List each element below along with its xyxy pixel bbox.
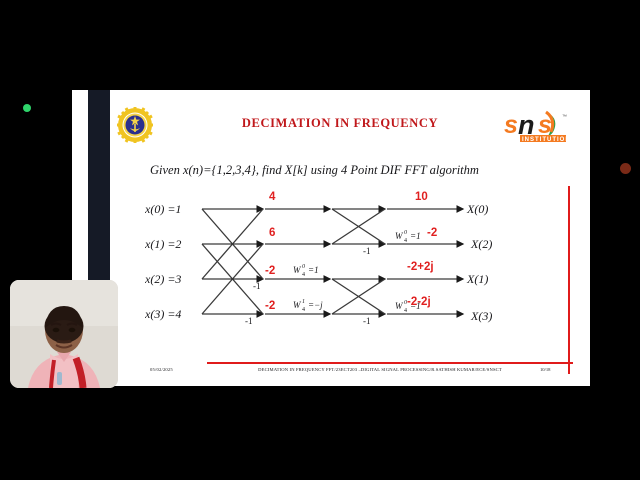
svg-text:W: W: [395, 301, 404, 311]
footer-page-number: 10/18: [540, 367, 550, 372]
svg-text:W: W: [293, 265, 302, 275]
output-label-0: X(0): [466, 202, 488, 216]
output-value-2: -2+2j: [407, 261, 434, 273]
svg-text:W: W: [293, 300, 302, 310]
stage1-value-3: -2: [265, 300, 275, 312]
svg-text:1: 1: [302, 299, 305, 305]
slide-vertical-accent-rule: [568, 186, 570, 374]
svg-text:=−j: =−j: [308, 300, 323, 310]
minus-one-label: -1: [253, 281, 261, 291]
svg-text:INSTITUTIONS: INSTITUTIONS: [522, 137, 574, 143]
fft-butterfly-diagram: x(0) =1 x(1) =2 x(2) =3 x(3) =4: [145, 190, 545, 340]
stage2-twiddle-0: W0 4=1: [395, 230, 421, 244]
footer-horizontal-rule: [207, 362, 573, 364]
footer-note: DECIMATION IN FREQUENCY FFT/23ECT203 –DI…: [215, 367, 545, 372]
svg-text:=1: =1: [308, 265, 319, 275]
svg-text:=1: =1: [410, 231, 421, 241]
sns-institutions-logo: s n s ™ INSTITUTIONS: [500, 108, 574, 146]
video-stage: DECIMATION IN FREQUENCY s n s ™ INSTITUT…: [0, 0, 640, 480]
minus-one-label: -1: [363, 316, 371, 326]
recording-indicator-dot: [23, 104, 31, 112]
input-label-1: x(1) =2: [145, 237, 181, 251]
right-edge-dot: [620, 163, 631, 174]
minus-one-label: -1: [245, 316, 253, 326]
output-value-0: 10: [415, 191, 428, 203]
footer-date: 05/02/2025: [150, 367, 173, 372]
output-label-1: X(2): [470, 237, 492, 251]
stage1-value-0: 4: [269, 191, 276, 203]
slide-title: DECIMATION IN FREQUENCY: [175, 116, 505, 131]
output-label-2: X(1): [466, 272, 488, 286]
svg-text:™: ™: [562, 114, 567, 120]
output-value-3: -2-2j: [407, 296, 431, 308]
minus-one-label: -1: [363, 246, 371, 256]
stage1-twiddle-1: W1 4=−j: [293, 299, 323, 313]
input-label-0: x(0) =1: [145, 202, 181, 216]
svg-text:s: s: [504, 111, 518, 139]
stage1-value-1: 6: [269, 227, 275, 239]
presenter-webcam-tile[interactable]: [10, 280, 118, 388]
svg-text:4: 4: [302, 307, 305, 313]
svg-text:0: 0: [404, 230, 407, 236]
output-value-1: -2: [427, 227, 437, 239]
svg-text:4: 4: [302, 272, 305, 278]
input-label-3: x(3) =4: [145, 307, 181, 321]
slide-subtitle: Given x(n)={1,2,3,4}, find X[k] using 4 …: [150, 163, 550, 178]
svg-text:4: 4: [404, 308, 407, 314]
svg-text:0: 0: [302, 264, 305, 270]
input-label-2: x(2) =3: [145, 272, 181, 286]
stage1-value-2: -2: [265, 265, 275, 277]
stage1-twiddle-0: W0 4=1: [293, 264, 319, 278]
svg-text:W: W: [395, 231, 404, 241]
college-seal-icon: [117, 107, 153, 143]
svg-text:4: 4: [404, 238, 407, 244]
output-label-3: X(3): [470, 309, 492, 323]
slide-left-accent-bar: [88, 90, 110, 282]
